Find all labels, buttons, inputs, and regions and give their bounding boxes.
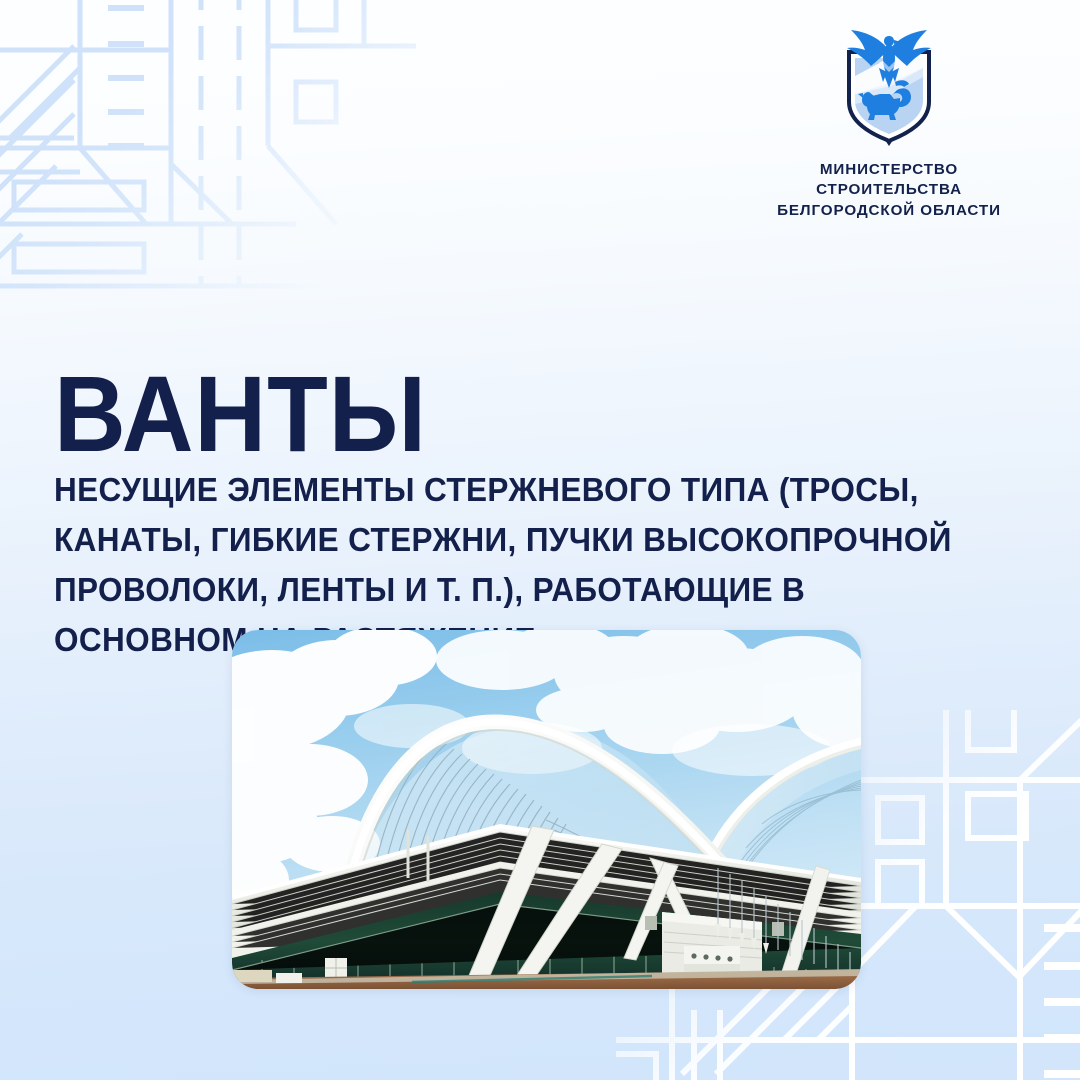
structure-photo xyxy=(232,630,861,989)
top-left-blueprint-pattern xyxy=(0,0,416,316)
belgorod-coat-of-arms-icon xyxy=(835,28,943,146)
ministry-logo-block: МИНИСТЕРСТВО СТРОИТЕЛЬСТВА БЕЛГОРОДСКОЙ … xyxy=(754,28,1024,221)
page-title: ВАНТЫ xyxy=(54,360,427,468)
ministry-name: МИНИСТЕРСТВО СТРОИТЕЛЬСТВА БЕЛГОРОДСКОЙ … xyxy=(754,160,1024,221)
poster-canvas: МИНИСТЕРСТВО СТРОИТЕЛЬСТВА БЕЛГОРОДСКОЙ … xyxy=(0,0,1080,1080)
